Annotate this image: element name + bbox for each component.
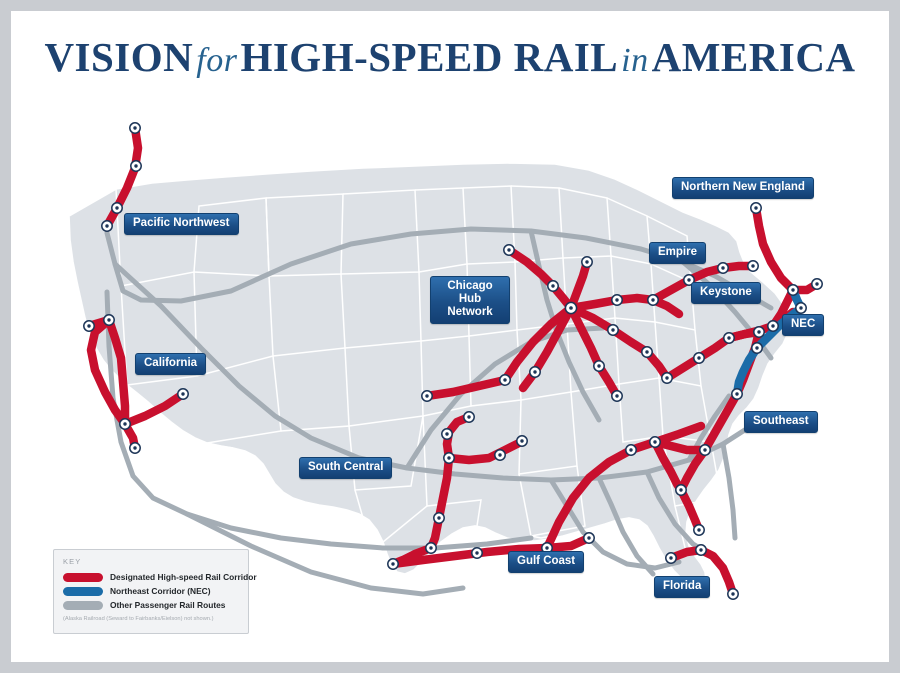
legend-swatch-hsr: [63, 573, 103, 582]
map-label-northern-new-england[interactable]: Northern New England: [672, 177, 814, 199]
legend-label-other: Other Passenger Rail Routes: [110, 600, 225, 610]
legend-footnote: (Alaska Railroad (Seward to Fairbanks/Ei…: [63, 616, 239, 622]
map-label-south-central[interactable]: South Central: [299, 457, 392, 479]
map-label-chicago-hub-network[interactable]: Chicago Hub Network: [430, 276, 510, 324]
map-legend: KEY Designated High-speed Rail Corridor …: [53, 549, 249, 634]
map-label-gulf-coast[interactable]: Gulf Coast: [508, 551, 584, 573]
map-label-southeast[interactable]: Southeast: [744, 411, 818, 433]
legend-title: KEY: [63, 557, 239, 566]
legend-label-hsr: Designated High-speed Rail Corridor: [110, 572, 257, 582]
title-high-speed-rail: HIGH-SPEED RAIL: [240, 34, 618, 80]
map-label-nec[interactable]: NEC: [782, 314, 824, 336]
legend-row-nec: Northeast Corridor (NEC): [63, 586, 239, 596]
title-vision: VISION: [44, 34, 193, 80]
map-label-empire[interactable]: Empire: [649, 242, 706, 264]
map-label-california[interactable]: California: [135, 353, 206, 375]
title-america: AMERICA: [652, 34, 856, 80]
map-label-keystone[interactable]: Keystone: [691, 282, 761, 304]
legend-row-hsr: Designated High-speed Rail Corridor: [63, 572, 239, 582]
legend-swatch-other: [63, 601, 103, 610]
map-canvas: .land { fill:#dde1e6; stroke:#ffffff; st…: [11, 86, 889, 662]
page-frame: VISIONforHIGH-SPEED RAILinAMERICA .land …: [11, 11, 889, 662]
title-for: for: [193, 42, 240, 79]
map-label-florida[interactable]: Florida: [654, 576, 710, 598]
map-label-pacific-northwest[interactable]: Pacific Northwest: [124, 213, 239, 235]
page-title: VISIONforHIGH-SPEED RAILinAMERICA: [11, 33, 889, 81]
title-in: in: [618, 42, 651, 79]
legend-row-other: Other Passenger Rail Routes: [63, 600, 239, 610]
legend-label-nec: Northeast Corridor (NEC): [110, 586, 211, 596]
legend-swatch-nec: [63, 587, 103, 596]
